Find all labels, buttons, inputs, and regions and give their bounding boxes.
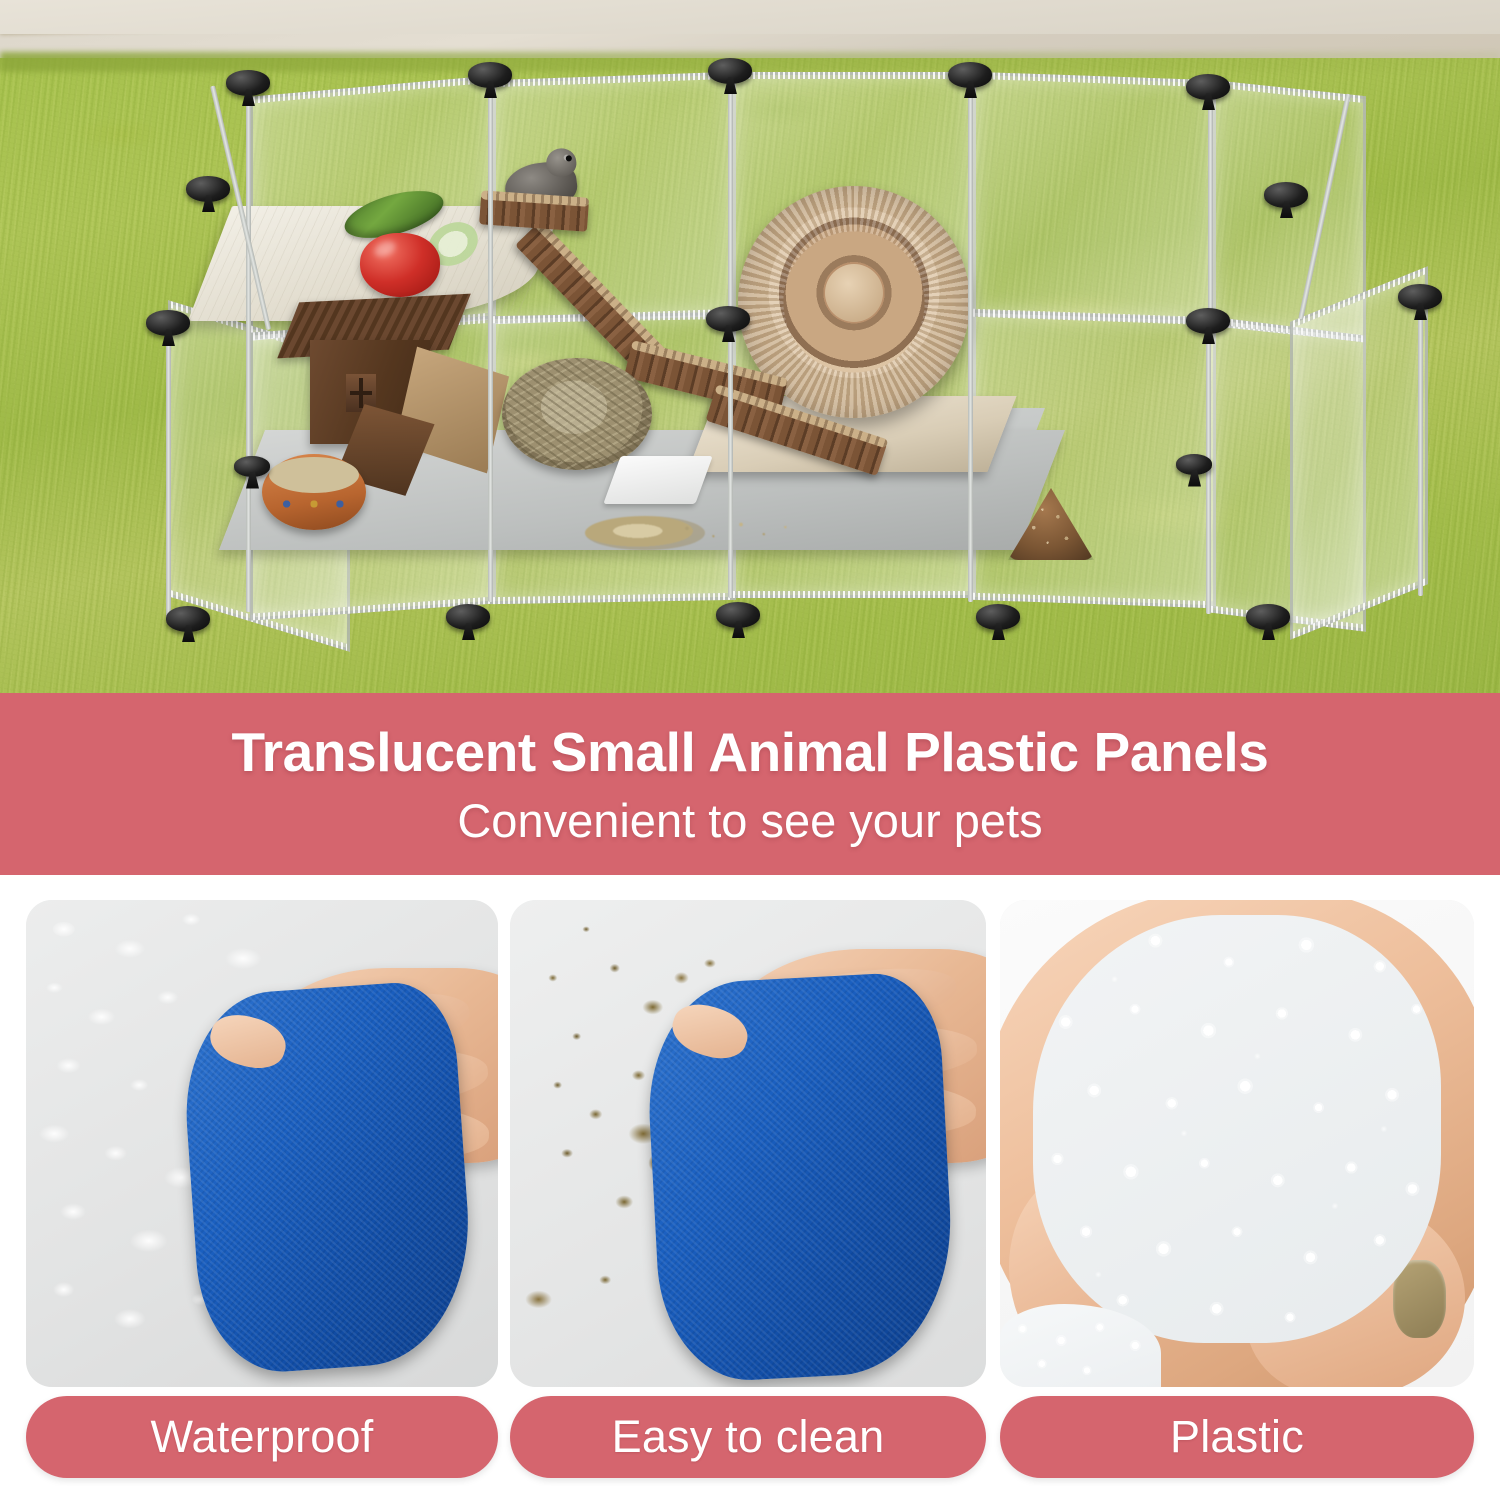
connector-clip-bottom-4 (976, 604, 1020, 630)
feature-card-waterproof (26, 900, 498, 1387)
apple (360, 233, 440, 297)
feature-label-waterproof: Waterproof (26, 1396, 498, 1478)
feature-label-easy-to-clean: Easy to clean (510, 1396, 986, 1478)
post-1 (246, 86, 251, 332)
feature-card-easy-to-clean (510, 900, 986, 1387)
ceramic-food-bowl (262, 454, 366, 530)
hero-product-photo (0, 0, 1500, 693)
walkway-upper-slab (0, 0, 1500, 34)
feature-label-plastic: Plastic (1000, 1396, 1474, 1478)
product-marketing-image: Translucent Small Animal Plastic Panels … (0, 0, 1500, 1486)
post-3 (728, 74, 733, 318)
connector-clip-inner-left (234, 456, 270, 477)
panel-right-end (1290, 266, 1428, 640)
banner-subtitle: Convenient to see your pets (457, 797, 1042, 844)
plastic-resin-pellets (1033, 915, 1441, 1344)
connector-clip-mid-left-a (186, 176, 230, 202)
connector-clip-top-1 (226, 70, 270, 96)
connector-clip-mid-left-b (146, 310, 190, 336)
connector-clip-mid-right-b (1398, 284, 1442, 310)
connector-clip-mid-center (706, 306, 750, 332)
connector-clip-mid-right-c (1264, 182, 1308, 208)
panel-back-4 (970, 72, 1216, 325)
post-4 (968, 78, 973, 322)
connector-clip-bottom-1 (166, 606, 210, 632)
post-10 (968, 316, 973, 602)
connector-clip-inner-right (1176, 454, 1212, 475)
white-mineral-dish (603, 456, 712, 504)
connector-clip-top-4 (948, 62, 992, 88)
post-8 (488, 316, 493, 602)
connector-clip-top-3 (708, 58, 752, 84)
connector-clip-top-5 (1186, 74, 1230, 100)
feature-card-plastic (1000, 900, 1474, 1387)
connector-clip-bottom-2 (446, 604, 490, 630)
hay-nest (502, 358, 652, 470)
post-5 (1208, 90, 1213, 334)
connector-clip-top-2 (468, 62, 512, 88)
connector-clip-bottom-5 (1246, 604, 1290, 630)
connector-clip-mid-right-a (1186, 308, 1230, 334)
seed-pile (585, 516, 705, 550)
post-6 (166, 326, 171, 618)
banner-title: Translucent Small Animal Plastic Panels (232, 725, 1269, 780)
feature-photo-row (0, 900, 1500, 1400)
post-2 (488, 78, 493, 322)
playpen-assembly (150, 58, 1350, 648)
connector-clip-bottom-3 (716, 602, 760, 628)
post-9 (728, 312, 733, 598)
feature-label-row: Waterproof Easy to clean Plastic (0, 1396, 1500, 1478)
headline-banner: Translucent Small Animal Plastic Panels … (0, 693, 1500, 875)
post-12 (1418, 296, 1423, 596)
